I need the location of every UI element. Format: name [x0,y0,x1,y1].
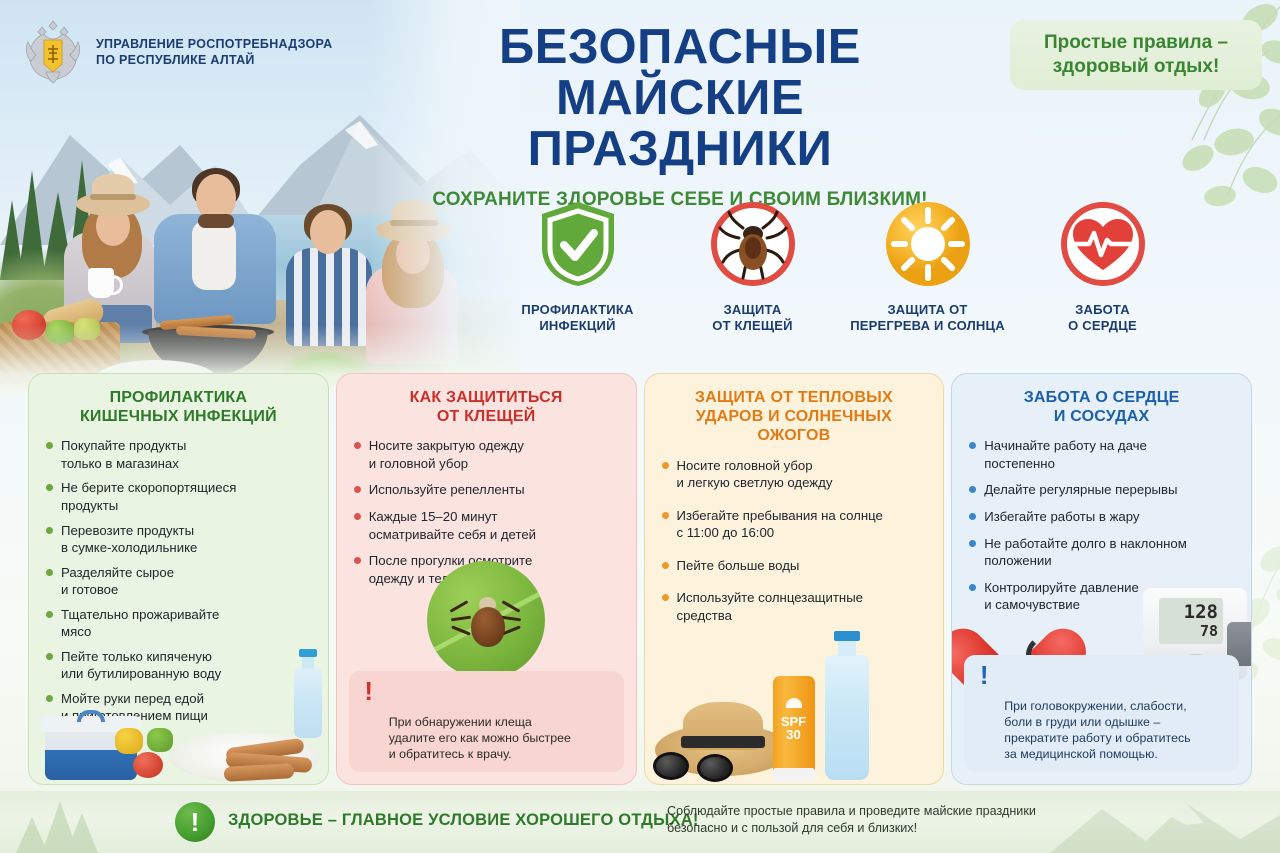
exclamation-icon: ! [363,680,375,703]
sunscreen-sun-icon [786,698,802,708]
shield-check-icon [490,196,665,292]
topic-icons-row: ПРОФИЛАКТИКА ИНФЕКЦИЙ [490,196,1190,356]
poster-title: БЕЗОПАСНЫЕ МАЙСКИЕ ПРАЗДНИКИ [400,22,960,175]
water-bottle [294,668,322,738]
footer-note: Соблюдайте простые правила и проведите м… [667,803,1147,837]
card-advice-list: Покупайте продукты только в магазинах Не… [45,437,312,732]
card-intestinal-infections: ПРОФИЛАКТИКА КИШЕЧНЫХ ИНФЕКЦИЙ Покупайте… [28,373,329,785]
topic-icon-heart: ЗАБОТА О СЕРДЦЕ [1015,196,1190,356]
list-item: Перевозите продукты в сумке-холодильнике [45,522,312,557]
sunscreen-cap [773,768,815,782]
slogan-badge-text: Простые правила – здоровый отдых! [1044,31,1228,80]
tick-on-leaf-photo [427,561,545,679]
bell-pepper [115,728,143,754]
card-alert-text: При обнаружении клеща удалите его как мо… [389,715,571,761]
organization-name: УПРАВЛЕНИЕ РОСПОТРЕБНАДЗОРА ПО РЕСПУБЛИК… [96,36,332,68]
list-item: Избегайте пребывания на солнце с 11:00 д… [661,507,928,542]
card-title: ЗАЩИТА ОТ ТЕПЛОВЫХ УДАРОВ И СОЛНЕЧНЫХ ОЖ… [661,388,928,446]
list-item: Носите закрытую одежду и головной убор [353,437,620,472]
list-item: Пейте только кипяченую или бутилированну… [45,648,312,683]
card-title: ЗАБОТА О СЕРДЦЕ И СОСУДАХ [968,388,1235,426]
card-heat-sun-protection: ЗАЩИТА ОТ ТЕПЛОВЫХ УДАРОВ И СОЛНЕЧНЫХ ОЖ… [644,373,945,785]
card-alert-box: ! При обнаружении клеща удалите его как … [349,671,624,772]
list-item: Разделяйте сырое и готовое [45,564,312,599]
footer-exclamation-icon: ! [175,802,215,842]
list-item: Используйте солнцезащитные средства [661,589,928,624]
card-alert-text: При головокружении, слабости, боли в гру… [1004,699,1190,761]
tick-leg [451,616,471,622]
green-pepper [147,728,173,752]
card-title: КАК ЗАЩИТИТЬСЯ ОТ КЛЕЩЕЙ [353,388,620,426]
sunglasses [653,752,739,782]
poster-title-block: БЕЗОПАСНЫЕ МАЙСКИЕ ПРАЗДНИКИ СОХРАНИТЕ З… [400,22,960,211]
bp-systolic-value: 128 [1184,601,1218,623]
mug [88,268,114,298]
tomato [133,752,163,778]
exclamation-icon: ! [978,664,990,687]
list-item: Тщательно прожаривайте мясо [45,606,312,641]
list-item: Делайте регулярные перерывы [968,481,1235,499]
double-headed-eagle-emblem-icon [22,18,84,86]
organization-logo-block: УПРАВЛЕНИЕ РОСПОТРЕБНАДЗОРА ПО РЕСПУБЛИК… [22,18,332,86]
topic-icon-label: ЗАЩИТА ОТ КЛЕЩЕЙ [665,302,840,335]
sunglasses-lens [653,752,689,780]
footer-bar: ! ЗДОРОВЬЕ – ГЛАВНОЕ УСЛОВИЕ ХОРОШЕГО ОТ… [0,791,1280,853]
advice-cards-row: ПРОФИЛАКТИКА КИШЕЧНЫХ ИНФЕКЦИЙ Покупайте… [28,373,1252,785]
topic-icon-ticks: ЗАЩИТА ОТ КЛЕЩЕЙ [665,196,840,356]
card-alert-box: ! При головокружении, слабости, боли в г… [964,655,1239,772]
card-heart-care: ЗАБОТА О СЕРДЦЕ И СОСУДАХ Начинайте рабо… [951,373,1252,785]
topic-icon-sun: ЗАЩИТА ОТ ПЕРЕГРЕВА И СОЛНЦА [840,196,1015,356]
water-bottle [825,655,869,780]
sunglasses-lens [697,754,733,782]
card-title: ПРОФИЛАКТИКА КИШЕЧНЫХ ИНФЕКЦИЙ [45,388,312,426]
sun-icon [840,196,1015,292]
bp-display: 128 78 [1159,598,1223,644]
list-item: Начинайте работу на даче постепенно [968,437,1235,472]
list-item: Не берите скоропортящиеся продукты [45,479,312,514]
topic-icon-label: ЗАБОТА О СЕРДЦЕ [1015,302,1190,335]
sunscreen-spf-label: SPF 30 [773,715,815,742]
topic-icon-label: ЗАЩИТА ОТ ПЕРЕГРЕВА И СОЛНЦА [840,302,1015,335]
list-item: Носите головной убор и легкую светлую од… [661,457,928,492]
footer-trees-decoration [8,795,158,853]
sausage [223,763,294,782]
card-tick-protection: КАК ЗАЩИТИТЬСЯ ОТ КЛЕЩЕЙ Носите закрытую… [336,373,637,785]
topic-icon-prevention: ПРОФИЛАКТИКА ИНФЕКЦИЙ [490,196,665,356]
tick-prohibited-icon [665,196,840,292]
infographic-poster: УПРАВЛЕНИЕ РОСПОТРЕБНАДЗОРА ПО РЕСПУБЛИК… [0,0,1280,853]
tick-leg [450,600,469,613]
tick-body [471,607,505,647]
bp-diastolic-value: 78 [1200,622,1218,640]
card-advice-list: Носите головной убор и легкую светлую од… [661,457,928,640]
figure-father [152,148,280,343]
list-item: Используйте репелленты [353,481,620,499]
list-item: Каждые 15–20 минут осматривайте себя и д… [353,508,620,543]
list-item: Пейте больше воды [661,557,928,575]
topic-icon-label: ПРОФИЛАКТИКА ИНФЕКЦИЙ [490,302,665,335]
footer-headline: ЗДОРОВЬЕ – ГЛАВНОЕ УСЛОВИЕ ХОРОШЕГО ОТДЫ… [228,811,699,830]
heart-pulse-icon [1015,196,1190,292]
list-item: Не работайте долго в наклонном положении [968,535,1235,570]
straw-hat-band [681,736,765,748]
slogan-badge: Простые правила – здоровый отдых! [1010,20,1262,90]
list-item: Избегайте работы в жару [968,508,1235,526]
list-item: Покупайте продукты только в магазинах [45,437,312,472]
